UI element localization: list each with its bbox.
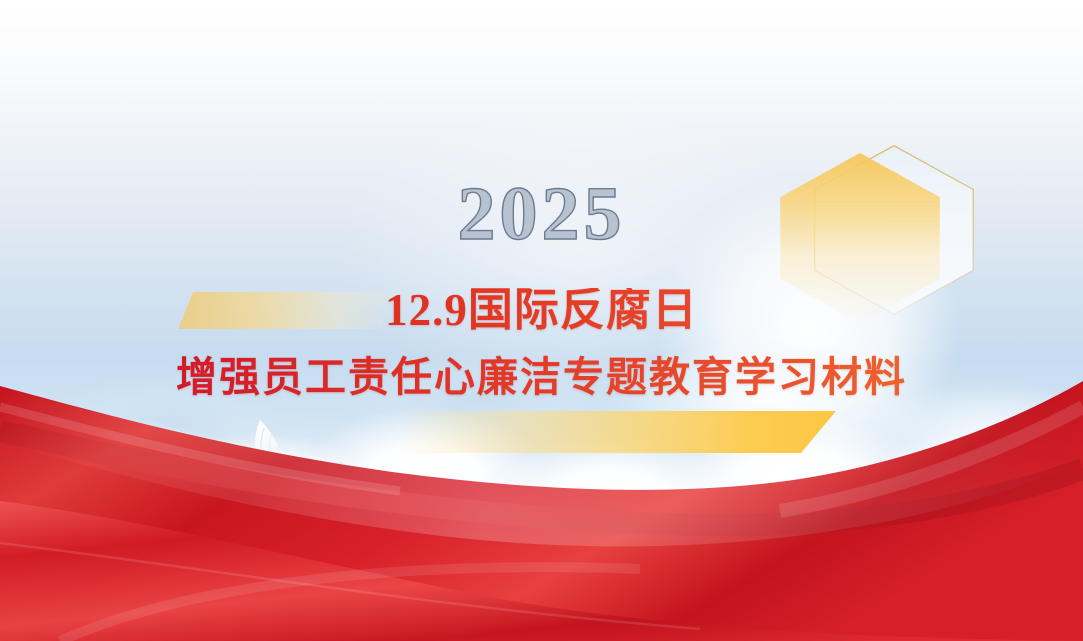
red-ribbon	[0, 311, 1083, 641]
poster-canvas: 2025 12.9国际反腐日 增强员工责任心廉洁专题教育学习材料	[0, 0, 1083, 641]
year-label: 2025	[0, 176, 1083, 252]
